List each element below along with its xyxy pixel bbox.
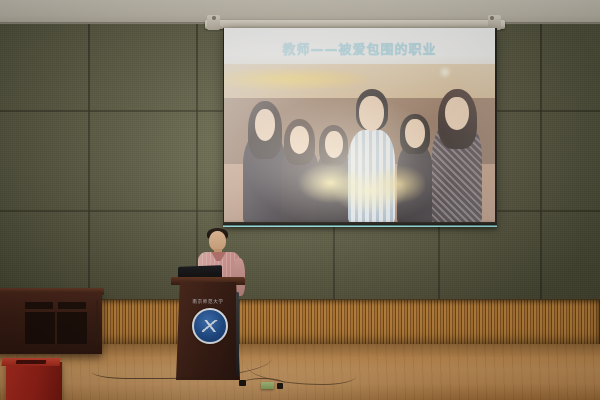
ballot-box-slot bbox=[16, 360, 47, 364]
projector-screen-weight-bar bbox=[223, 222, 497, 227]
cable-plug bbox=[277, 383, 283, 389]
photo-highlight-glow bbox=[224, 64, 495, 223]
slide-title-text: 教师——被爱包围的职业 bbox=[224, 39, 495, 58]
projector-screen: 教师——被爱包围的职业 bbox=[224, 28, 495, 223]
slide-photo bbox=[224, 64, 495, 223]
podium-emblem-text: 南京师范大学 bbox=[184, 299, 232, 305]
screen-mount-screw-left bbox=[212, 16, 216, 20]
screen-mount-screw-right bbox=[490, 16, 494, 20]
lecture-hall-photo: 教师——被爱包围的职业 bbox=[0, 0, 600, 400]
desk-opening bbox=[58, 302, 86, 309]
screen-edge-right bbox=[495, 28, 497, 223]
desk-divider bbox=[55, 312, 57, 344]
cable-plug bbox=[239, 380, 246, 386]
ballot-box bbox=[6, 362, 62, 400]
university-emblem bbox=[192, 308, 228, 344]
power-strip bbox=[261, 382, 274, 389]
desk-opening bbox=[25, 302, 53, 309]
wall-cable bbox=[96, 300, 98, 346]
emblem-bird-icon bbox=[202, 320, 218, 332]
speaker-head bbox=[209, 231, 226, 251]
